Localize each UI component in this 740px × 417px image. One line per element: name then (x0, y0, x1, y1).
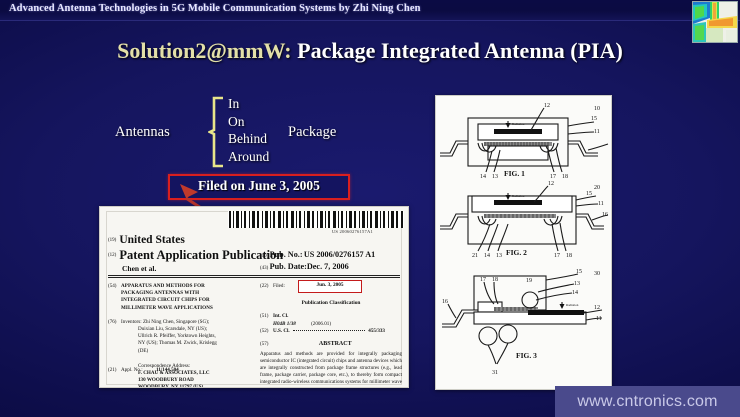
us-cl-leader-dots (293, 330, 365, 331)
svg-text:10: 10 (594, 106, 600, 112)
svg-text:14: 14 (480, 174, 486, 180)
watermark: www.cntronics.com (555, 386, 740, 417)
svg-text:11: 11 (598, 201, 604, 207)
svg-text:17: 17 (550, 174, 556, 180)
filed-date-callout-text: Filed on June 3, 2005 (170, 176, 348, 195)
svg-text:18: 18 (492, 277, 498, 283)
correspondence-line-3: WOODBURY, NY 11797 (US) (138, 384, 248, 388)
title-main: Package Integrated Antenna (PIA) (297, 38, 623, 63)
patent-figures-panel: Radiation (435, 95, 612, 390)
svg-text:17: 17 (554, 253, 560, 259)
us-cl-tag: (52) (260, 328, 273, 335)
placement-option-on: On (228, 113, 269, 131)
abstract-tag: (57) (260, 341, 269, 348)
us-cl-value: 455/333 (368, 328, 385, 334)
svg-text:Radiation: Radiation (512, 194, 525, 198)
patent-figures-drawing: Radiation (436, 96, 611, 389)
svg-text:20: 20 (594, 185, 600, 191)
svg-text:19: 19 (526, 278, 532, 284)
svg-text:21: 21 (472, 253, 478, 259)
country-name: United States (119, 234, 185, 246)
inventors-line-4: NY (US); Thomas M. Zwick, Krislegg (138, 340, 248, 347)
int-cl-tag: (51) (260, 313, 273, 320)
kind-tag: (12) (108, 253, 116, 258)
pub-no-label: Pub. No.: (270, 250, 303, 259)
int-cl-label: Int. Cl. (273, 313, 288, 319)
patent-divider-bottom (108, 277, 400, 278)
filed-date-callout: Filed on June 3, 2005 (168, 174, 350, 200)
patent-country-line: (19)United States (108, 234, 185, 246)
svg-text:11: 11 (594, 129, 600, 135)
svg-text:13: 13 (574, 281, 580, 287)
inventors-line-1: Zhi Ning Chen, Singapore (SG); (143, 319, 209, 325)
patent-inventors-block: (76)Inventors: Zhi Ning Chen, Singapore … (108, 319, 248, 355)
svg-text:18: 18 (566, 253, 572, 259)
svg-text:FIG. 1: FIG. 1 (504, 169, 525, 178)
svg-text:Radiation: Radiation (512, 122, 525, 126)
em-simulation-thumbnail-icon (692, 1, 738, 43)
patent-document: US 20060276157A1 (19)United States (12)P… (99, 206, 409, 388)
svg-text:FIG. 3: FIG. 3 (516, 351, 537, 360)
svg-text:12: 12 (544, 103, 550, 109)
filed-tag: (22) (260, 283, 273, 290)
slide-canvas: Advanced Antenna Technologies in 5G Mobi… (0, 0, 740, 417)
svg-text:Radiation: Radiation (566, 303, 579, 307)
int-cl-block: (51)Int. Cl. H04B 1/38 (2006.01) (260, 313, 402, 328)
slide-title: Solution2@mmW: Package Integrated Antenn… (0, 38, 740, 64)
pub-no-value: US 2006/0276157 A1 (304, 250, 375, 259)
us-cl-block: (52)U.S. Cl. 455/333 (260, 328, 402, 335)
inventors-tag: (76) (108, 319, 121, 326)
barcode-icon (228, 211, 404, 228)
svg-text:14: 14 (572, 290, 578, 296)
patent-right-column: (22)Filed: Jun. 3, 2005 Publication Clas… (260, 283, 402, 388)
antenna-package-relation: Antennas In On Behind Around Package (110, 100, 410, 175)
placement-option-in: In (228, 95, 269, 113)
svg-text:18: 18 (562, 174, 568, 180)
svg-text:31: 31 (492, 370, 498, 376)
patent-title-line-2: PACKAGING ANTENNAS WITH (121, 290, 248, 297)
patent-title-block: (54)APPARATUS AND METHODS FOR PACKAGING … (108, 283, 248, 312)
pub-date-tag: (43) (260, 266, 268, 271)
svg-text:12: 12 (594, 305, 600, 311)
int-cl-year: (2006.01) (311, 321, 331, 327)
title-tag: (54) (108, 283, 121, 290)
svg-text:11: 11 (596, 316, 602, 322)
antennas-label: Antennas (115, 124, 170, 141)
svg-text:14: 14 (484, 253, 490, 259)
patent-pub-no-line: (10) Pub. No.: US 2006/0276157 A1 (260, 250, 375, 259)
svg-text:30: 30 (594, 271, 600, 277)
svg-text:15: 15 (586, 191, 592, 197)
logo-graphic (693, 2, 737, 42)
patent-title-line-4: MILLIMETER WAVE APPLICATIONS (121, 305, 248, 312)
svg-text:13: 13 (496, 253, 502, 259)
package-label: Package (288, 124, 336, 141)
header-banner: Advanced Antenna Technologies in 5G Mobi… (0, 0, 740, 21)
patent-authors: Chen et al. (122, 264, 156, 273)
svg-text:16: 16 (602, 212, 608, 218)
inventors-label: Inventors: (121, 319, 142, 325)
country-tag: (19) (108, 238, 116, 243)
appl-label: Appl. No.: (121, 367, 143, 373)
int-cl-code: H04B 1/38 (273, 321, 296, 327)
svg-text:17: 17 (480, 277, 486, 283)
svg-text:16: 16 (442, 299, 448, 305)
pub-date-label: Pub. Date: (270, 262, 307, 271)
abstract-heading: ABSTRACT (319, 341, 352, 347)
patent-divider-top (108, 275, 400, 276)
filed-date-value: Jun. 3, 2005 (299, 281, 361, 290)
placement-options-list: In On Behind Around (228, 95, 269, 165)
banner-title: Advanced Antenna Technologies in 5G Mobi… (9, 3, 421, 14)
inventors-line-5: (DE) (138, 348, 248, 355)
svg-text:13: 13 (492, 174, 498, 180)
publication-classification-heading: Publication Classification (260, 300, 402, 307)
svg-text:15: 15 (591, 116, 597, 122)
title-prefix: Solution2@mmW: (117, 38, 292, 63)
patent-pub-date-line: (43) Pub. Date: Dec. 7, 2006 (260, 262, 353, 271)
kind-name: Patent Application Publication (119, 248, 283, 262)
appl-tag: (21) (108, 367, 121, 373)
barcode-number: US 20060276157A1 (332, 229, 373, 234)
svg-text:FIG. 2: FIG. 2 (506, 248, 527, 257)
appl-no-value: 11/144,504 (156, 367, 179, 373)
pub-no-tag: (10) (260, 254, 268, 259)
abstract-heading-row: (57) ABSTRACT (260, 341, 402, 348)
filed-date-highlight-box: Jun. 3, 2005 (298, 280, 362, 293)
placement-option-around: Around (228, 148, 269, 166)
patent-title-line-3: INTEGRATED CIRCUIT CHIPS FOR (121, 297, 248, 304)
filed-label: Filed: (273, 283, 285, 289)
svg-text:12: 12 (548, 181, 554, 187)
us-cl-label: U.S. Cl. (273, 328, 290, 334)
patent-kind-line: (12)Patent Application Publication (108, 248, 283, 263)
placement-option-behind: Behind (228, 130, 269, 148)
svg-text:15: 15 (576, 269, 582, 275)
brace-icon (208, 96, 226, 168)
patent-appl-no-block: (21)Appl. No.: 11/144,504 (108, 367, 179, 373)
pub-date-value: Dec. 7, 2006 (307, 262, 349, 271)
watermark-text: www.cntronics.com (555, 386, 740, 417)
patent-filed-row: (22)Filed: Jun. 3, 2005 (260, 283, 402, 295)
abstract-body: Apparatus and methods are provided for i… (260, 351, 402, 388)
patent-title-line-1: APPARATUS AND METHODS FOR (121, 283, 205, 289)
